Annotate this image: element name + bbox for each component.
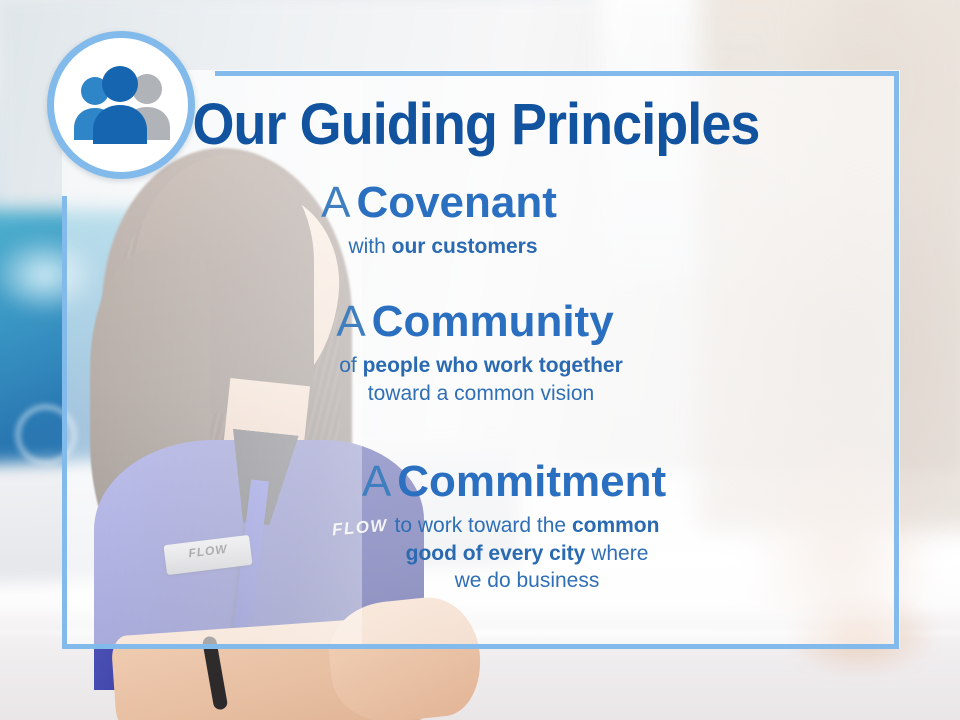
principle-subtext-line: of people who work together	[62, 352, 900, 380]
subtext-bold: our customers	[392, 235, 538, 258]
subtext-regular: with	[348, 235, 391, 258]
subtext-bold: people who work together	[363, 354, 623, 377]
subtext-regular: to work toward the	[395, 514, 572, 537]
principle-block-community: ACommunity of people who work together t…	[62, 299, 900, 407]
principle-heading-commitment: ACommitment	[62, 459, 900, 506]
principle-heading-covenant: ACovenant	[62, 180, 900, 227]
principle-keyword-commitment: Commitment	[397, 457, 666, 506]
principle-subtext-line: to work toward the common	[154, 512, 900, 540]
subtext-regular: of	[339, 354, 362, 377]
page-title: Our Guiding Principles	[91, 96, 861, 154]
subtext-regular: toward a common vision	[368, 382, 594, 405]
principle-subtext-community: of people who work together toward a com…	[62, 352, 900, 408]
principle-subtext-line: with our customers	[62, 233, 824, 261]
principle-subtext-covenant: with our customers	[62, 233, 900, 261]
banner-canvas: FLOW FLOW Our Guiding Principles ACovena…	[0, 0, 960, 720]
subtext-bold: good of every city	[406, 542, 586, 565]
subtext-regular: we do business	[455, 569, 600, 592]
principle-article-1: A	[321, 178, 350, 227]
subtext-regular: where	[585, 542, 648, 565]
principle-subtext-line: good of every city where	[154, 540, 900, 568]
subtext-bold: common	[572, 514, 660, 537]
principle-subtext-commitment: to work toward the common good of every …	[62, 512, 900, 596]
principle-keyword-covenant: Covenant	[356, 178, 556, 227]
principle-block-covenant: ACovenant with our customers	[62, 180, 900, 261]
principle-article-2: A	[336, 297, 365, 346]
principle-keyword-community: Community	[372, 297, 614, 346]
principles-content: Our Guiding Principles ACovenant with ou…	[62, 70, 900, 648]
principle-subtext-line: toward a common vision	[62, 380, 900, 408]
principle-block-commitment: ACommitment to work toward the common go…	[62, 459, 900, 595]
principle-article-3: A	[362, 457, 391, 506]
principle-subtext-line: we do business	[154, 567, 900, 595]
principle-heading-community: ACommunity	[62, 299, 900, 346]
